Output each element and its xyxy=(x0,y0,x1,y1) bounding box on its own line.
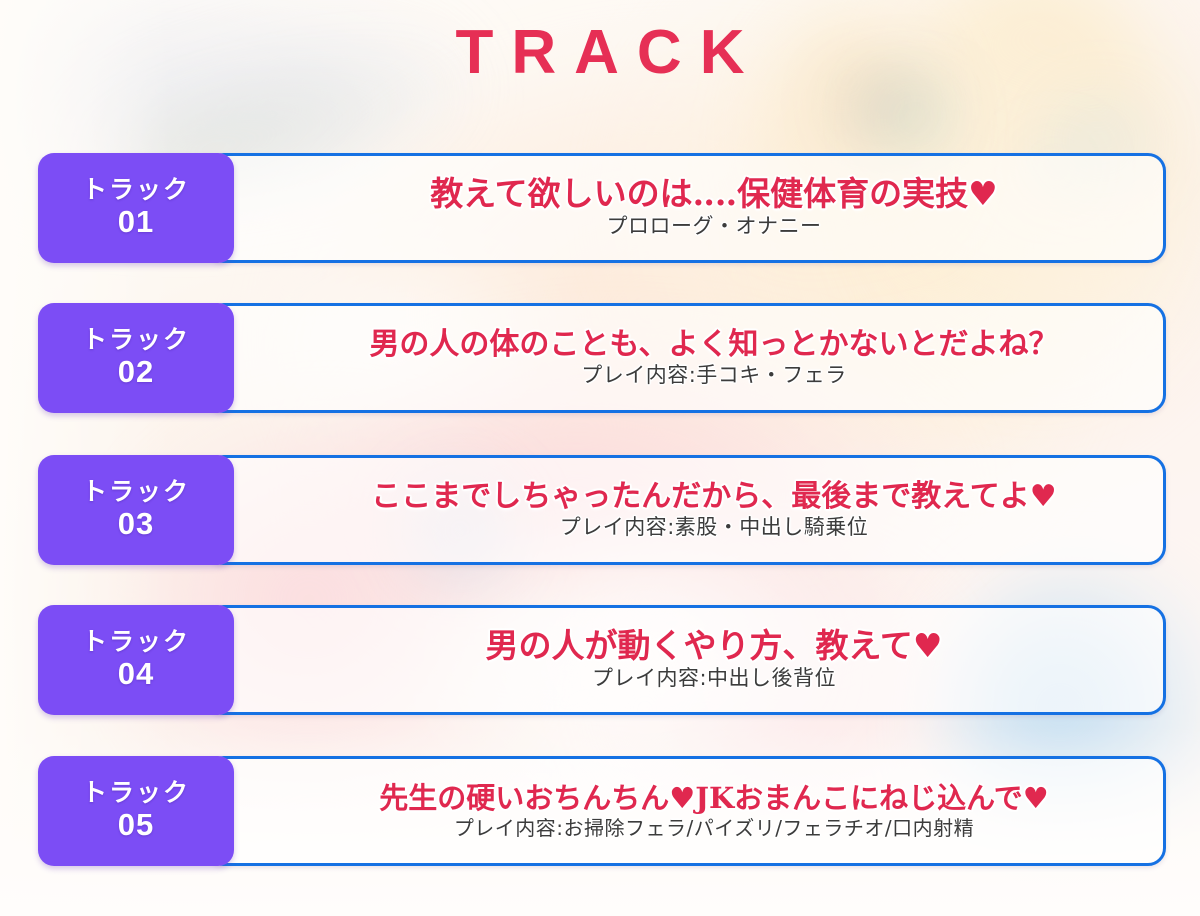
track-info-panel: 先生の硬いおちんちん♥JKおまんこにねじ込んで♥ プレイ内容:お掃除フェラ/パイ… xyxy=(206,756,1166,866)
track-row[interactable]: ここまでしちゃったんだから、最後まで教えてよ♥ プレイ内容:素股・中出し騎乗位 … xyxy=(38,455,1166,565)
track-number-badge[interactable]: トラック 03 xyxy=(38,455,234,565)
track-row[interactable]: 男の人の体のことも、よく知っとかないとだよね？ プレイ内容:手コキ・フェラ トラ… xyxy=(38,303,1166,413)
track-subtitle: プレイ内容:素股・中出し騎乗位 xyxy=(560,515,869,540)
track-badge-number: 02 xyxy=(118,354,154,390)
track-badge-label: トラック xyxy=(82,478,190,506)
track-subtitle: プロローグ・オナニー xyxy=(607,214,822,239)
track-info-panel: 男の人の体のことも、よく知っとかないとだよね？ プレイ内容:手コキ・フェラ xyxy=(206,303,1166,413)
track-row[interactable]: 教えて欲しいのは‥‥保健体育の実技♥ プロローグ・オナニー トラック 01 xyxy=(38,153,1166,263)
track-row[interactable]: 男の人が動くやり方、教えて♥ プレイ内容:中出し後背位 トラック 04 xyxy=(38,605,1166,715)
track-info-panel: 教えて欲しいのは‥‥保健体育の実技♥ プロローグ・オナニー xyxy=(206,153,1166,263)
track-badge-number: 03 xyxy=(118,506,154,542)
page-title: TRACK xyxy=(0,14,1200,92)
track-title: 先生の硬いおちんちん♥JKおまんこにねじ込んで♥ xyxy=(379,782,1048,814)
track-info-panel: 男の人が動くやり方、教えて♥ プレイ内容:中出し後背位 xyxy=(206,605,1166,715)
track-title: ここまでしちゃったんだから、最後まで教えてよ♥ xyxy=(371,480,1056,514)
track-info-panel: ここまでしちゃったんだから、最後まで教えてよ♥ プレイ内容:素股・中出し騎乗位 xyxy=(206,455,1166,565)
track-badge-number: 04 xyxy=(118,656,154,692)
track-title: 男の人の体のことも、よく知っとかないとだよね？ xyxy=(369,328,1058,362)
track-row[interactable]: 先生の硬いおちんちん♥JKおまんこにねじ込んで♥ プレイ内容:お掃除フェラ/パイ… xyxy=(38,756,1166,866)
track-badge-label: トラック xyxy=(82,176,190,204)
track-subtitle: プレイ内容:お掃除フェラ/パイズリ/フェラチオ/口内射精 xyxy=(454,816,974,840)
track-number-badge[interactable]: トラック 01 xyxy=(38,153,234,263)
track-number-badge[interactable]: トラック 05 xyxy=(38,756,234,866)
track-title: 教えて欲しいのは‥‥保健体育の実技♥ xyxy=(430,176,997,213)
track-badge-label: トラック xyxy=(82,779,190,807)
track-subtitle: プレイ内容:手コキ・フェラ xyxy=(581,363,847,388)
track-badge-number: 05 xyxy=(118,807,154,843)
track-badge-label: トラック xyxy=(82,326,190,354)
track-badge-label: トラック xyxy=(82,628,190,656)
track-number-badge[interactable]: トラック 04 xyxy=(38,605,234,715)
track-number-badge[interactable]: トラック 02 xyxy=(38,303,234,413)
track-badge-number: 01 xyxy=(118,204,154,240)
track-list-page: TRACK 教えて欲しいのは‥‥保健体育の実技♥ プロローグ・オナニー トラック… xyxy=(0,0,1200,916)
track-title: 男の人が動くやり方、教えて♥ xyxy=(486,628,943,665)
track-subtitle: プレイ内容:中出し後背位 xyxy=(592,666,836,691)
